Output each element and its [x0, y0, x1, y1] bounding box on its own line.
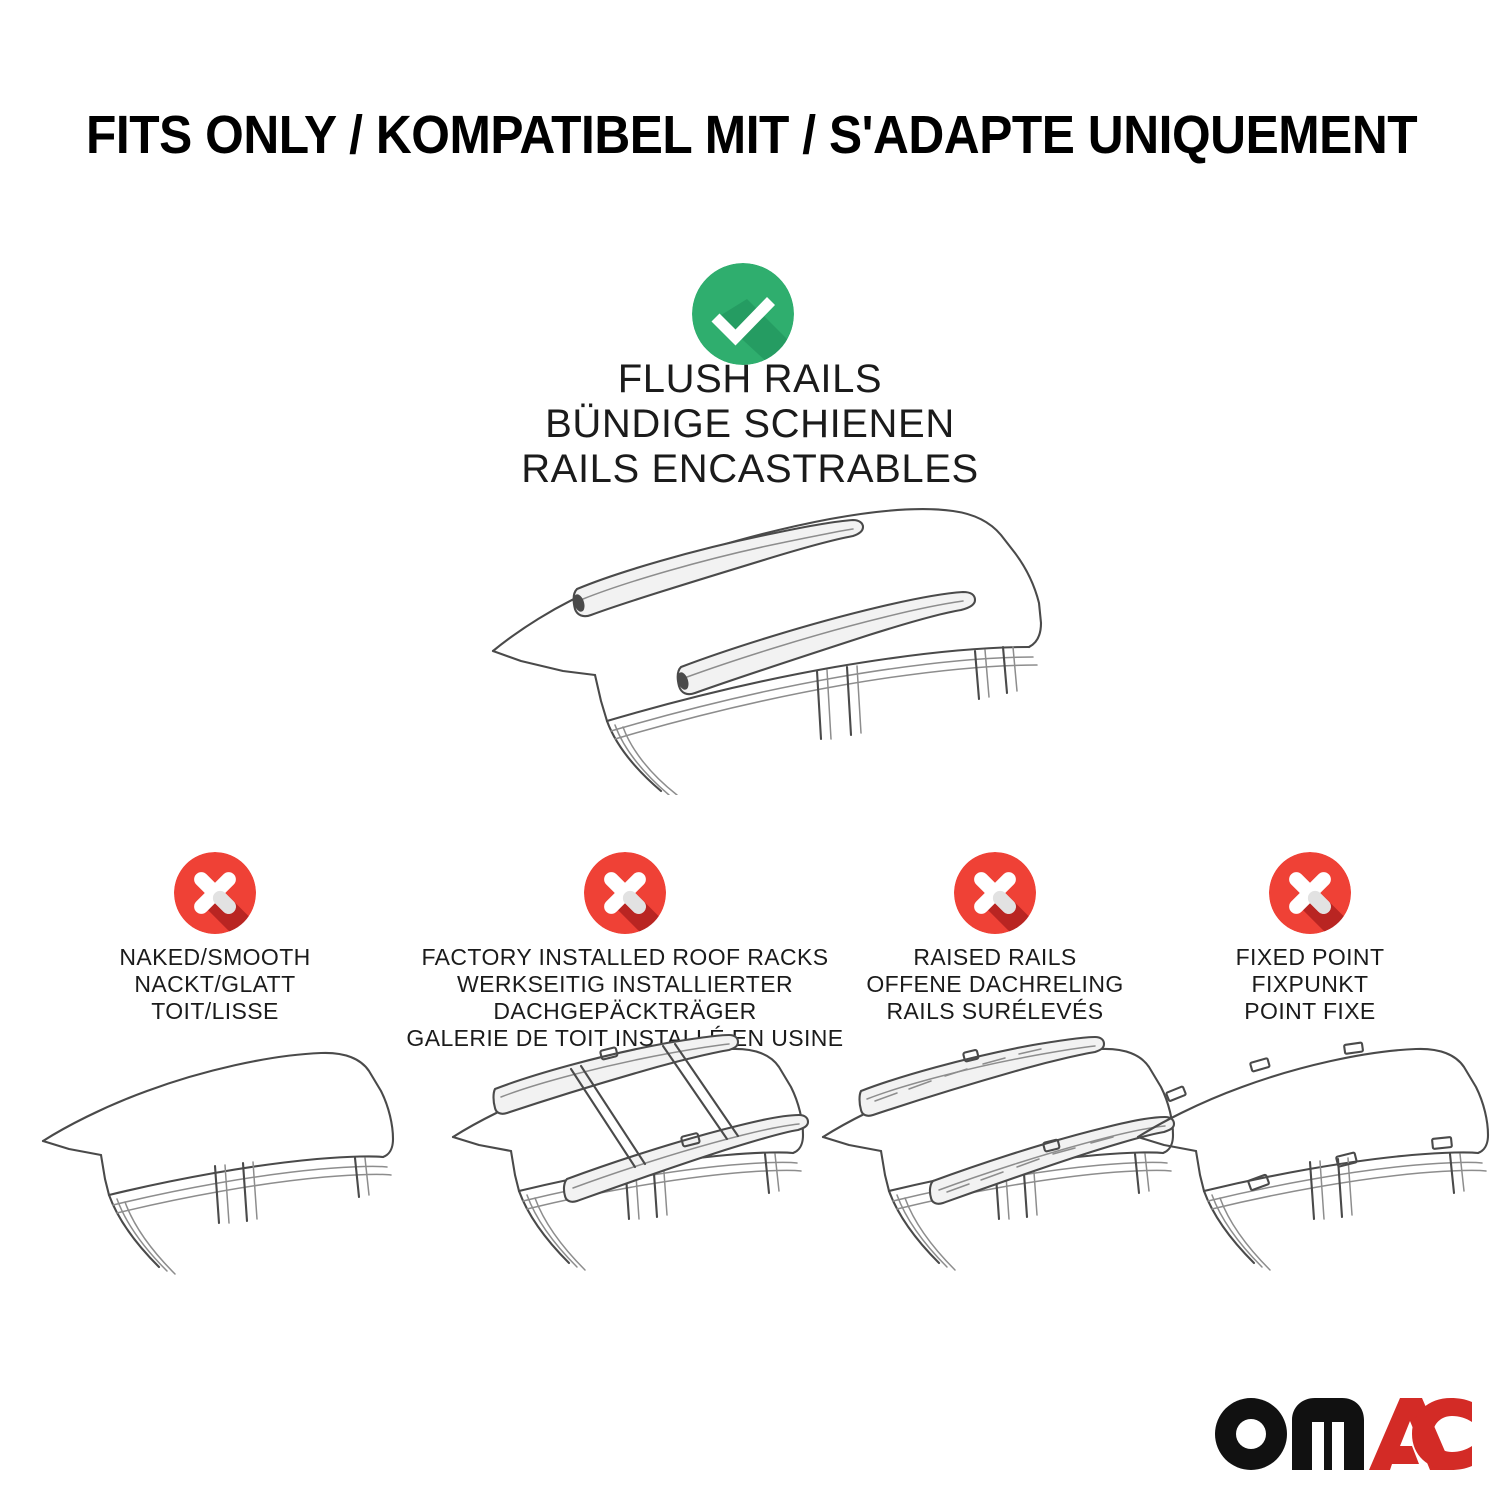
check-circle-icon [692, 263, 794, 365]
compatible-label-line-fr: RAILS ENCASTRABLES [250, 447, 1250, 492]
label-line-de-1: WERKSEITIG INSTALLIERTER [405, 971, 845, 998]
cross-circle-svg [584, 852, 666, 934]
compatible-label-line-de: BÜNDIGE SCHIENEN [250, 402, 1250, 447]
compatible-label: FLUSH RAILS BÜNDIGE SCHIENEN RAILS ENCAS… [250, 357, 1250, 492]
label-line-en: FIXED POINT [1120, 944, 1500, 971]
omac-logo [1214, 1396, 1472, 1470]
label-line-fr: TOIT/LISSE [25, 998, 405, 1025]
cross-circle-icon [954, 852, 1036, 934]
check-circle-svg [692, 263, 794, 365]
label-line-en: NAKED/SMOOTH [25, 944, 405, 971]
incompatible-label-naked-smooth: NAKED/SMOOTH NACKT/GLATT TOIT/LISSE [25, 944, 405, 1025]
cross-circle-icon [174, 852, 256, 934]
label-line-fr: POINT FIXE [1120, 998, 1500, 1025]
page-title: FITS ONLY / KOMPATIBEL MIT / S'ADAPTE UN… [86, 104, 1319, 166]
compatible-label-line-en: FLUSH RAILS [250, 357, 1250, 402]
cross-circle-svg [954, 852, 1036, 934]
incompatible-item-factory-roof-racks: FACTORY INSTALLED ROOF RACKS WERKSEITIG … [435, 845, 815, 1295]
incompatible-item-fixed-point: FIXED POINT FIXPUNKT POINT FIXE [1120, 845, 1500, 1295]
incompatible-label-fixed-point: FIXED POINT FIXPUNKT POINT FIXE [1120, 944, 1500, 1025]
cross-circle-svg [1269, 852, 1351, 934]
car-roof-factory-roof-racks-illustration [435, 1045, 815, 1295]
cross-circle-icon [584, 852, 666, 934]
label-line-en: FACTORY INSTALLED ROOF RACKS [405, 944, 845, 971]
car-roof-flush-rails-illustration [455, 495, 1055, 795]
logo-letter-o [1215, 1398, 1287, 1470]
cross-circle-icon [1269, 852, 1351, 934]
cross-circle-svg [174, 852, 256, 934]
logo-letter-m [1292, 1398, 1364, 1470]
label-line-de-2: DACHGEPÄCKTRÄGER [405, 998, 845, 1025]
omac-logo-svg [1214, 1396, 1472, 1470]
car-roof-fixed-point-illustration [1120, 1045, 1500, 1295]
incompatible-item-naked-smooth: NAKED/SMOOTH NACKT/GLATT TOIT/LISSE [25, 845, 405, 1295]
label-line-de: NACKT/GLATT [25, 971, 405, 998]
label-line-de: FIXPUNKT [1120, 971, 1500, 998]
car-roof-naked-smooth-illustration [25, 1045, 405, 1295]
